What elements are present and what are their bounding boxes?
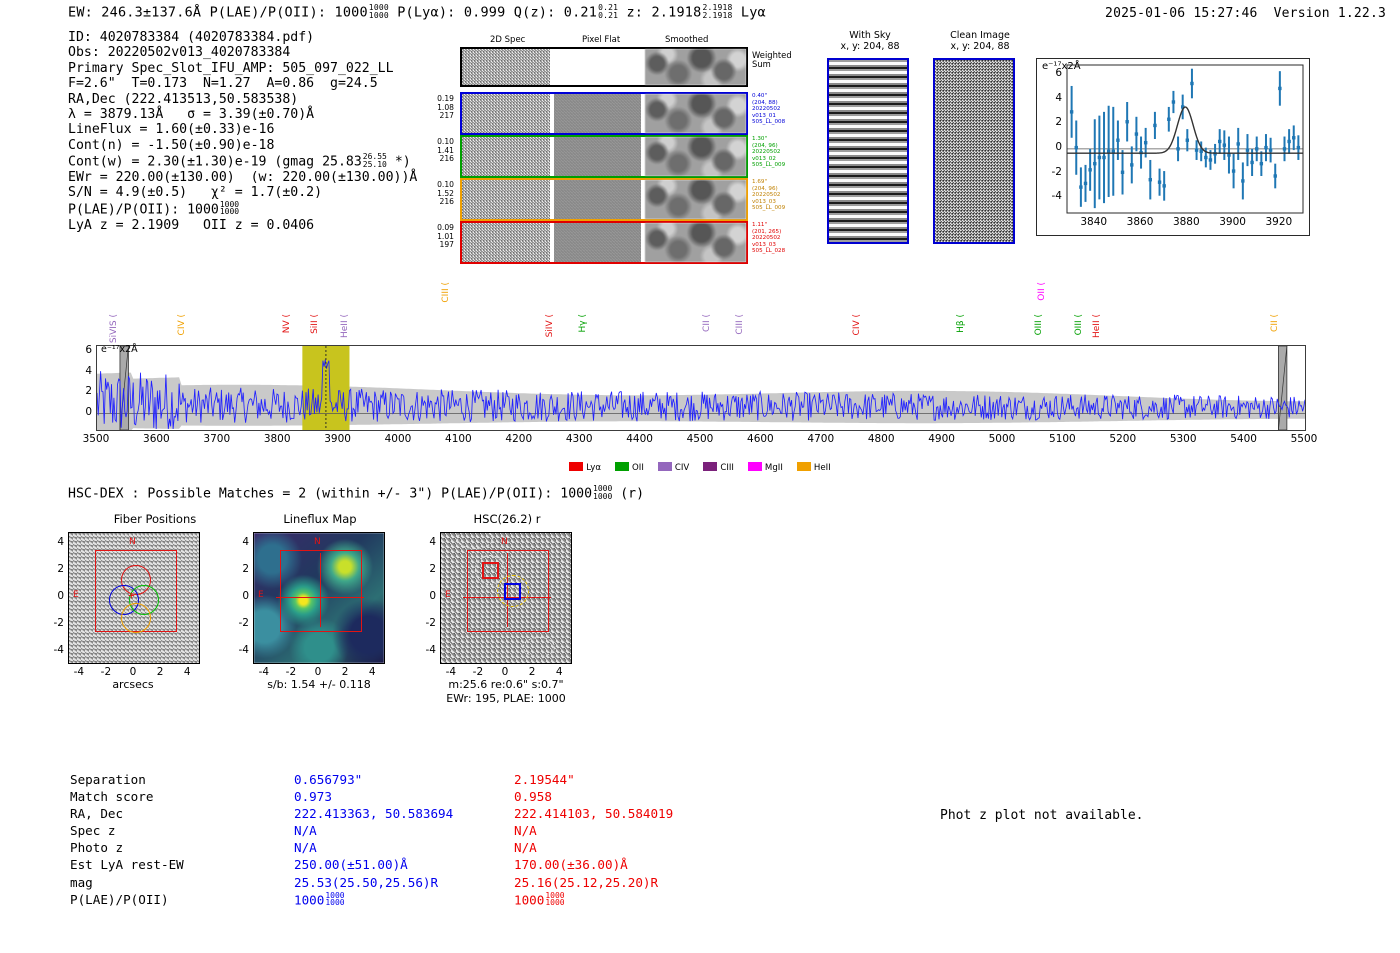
axis-tick-label: 3800 — [257, 433, 297, 445]
match-marker-2[interactable] — [482, 562, 499, 579]
fiber-positions-xlabel: arcsecs — [68, 678, 198, 691]
strip-pixelflat-image — [554, 49, 641, 85]
table-row: mag25.53(25.50,25.56)R25.16(25.12,25.20)… — [70, 875, 673, 890]
axis-tick-label: 4 — [539, 666, 579, 678]
axis-tick-label: 4500 — [680, 433, 720, 445]
axis-tick-label: 4200 — [499, 433, 539, 445]
full-spectrum-units: e⁻¹⁷x2Å — [101, 344, 138, 355]
axis-tick-label: 4 — [352, 666, 392, 678]
fiber-positions-image[interactable]: N E + — [68, 532, 200, 664]
fiber-strip — [460, 221, 748, 264]
axis-tick-label: 4 — [410, 536, 436, 548]
table-row-label: RA, Dec — [70, 806, 292, 821]
photz-note: Phot z plot not available. — [940, 808, 1144, 823]
info-obs: Obs: 20220502v013_4020783384 — [68, 45, 417, 60]
table-row-label: mag — [70, 875, 292, 890]
header-timestamp-version: 2025-01-06 15:27:46 Version 1.22.3 — [1105, 6, 1386, 21]
axis-tick-label: 4000 — [378, 433, 418, 445]
match2-value: 0.958 — [514, 789, 673, 804]
table-row: RA, Dec222.413363, 50.583694222.414103, … — [70, 806, 673, 821]
match1-value: 0.973 — [294, 789, 512, 804]
axis-tick-label: 3860 — [1120, 216, 1160, 228]
emission-line-legend: LyαOIICIVCIIIMgIIHeII — [0, 457, 1400, 476]
fiber-positions-title: Fiber Positions — [60, 512, 250, 526]
axis-tick-label: -2 — [1036, 166, 1062, 178]
info-cont-w: Cont(w) = 2.30(±1.30)e-19 (gmag 25.8326.… — [68, 153, 417, 170]
table-row-label: Spec z — [70, 823, 292, 838]
hsc-dex-header: HSC-DEX : Possible Matches = 2 (within +… — [68, 485, 644, 501]
fiber-left-stats: 0.101.41216 — [420, 138, 454, 164]
plae-fraction: 10001000 — [325, 892, 344, 907]
match1-value: 0.656793" — [294, 772, 512, 787]
axis-tick-label: 5200 — [1103, 433, 1143, 445]
match-table: Separation0.656793"2.19544"Match score0.… — [68, 770, 675, 909]
match1-value: 250.00(±51.00)Å — [294, 857, 512, 872]
with-sky-title: With Skyx, y: 204, 88 — [820, 30, 920, 52]
info-lambda-sigma: λ = 3879.13Å σ = 3.39(±0.70)Å — [68, 107, 417, 122]
match2-value: N/A — [514, 840, 673, 855]
version-label: Version 1.22.3 — [1274, 6, 1386, 21]
weighted-sum-strip — [460, 47, 748, 87]
axis-tick-label: 6 — [1036, 67, 1062, 79]
axis-tick-label: 0 — [66, 406, 92, 418]
clean-image-title: Clean Imagex, y: 204, 88 — [925, 30, 1035, 52]
hsc-r-image[interactable]: N E — [440, 532, 572, 664]
header-plae-fraction: 10001000 — [369, 4, 389, 19]
axis-tick-label: 3700 — [197, 433, 237, 445]
match2-value: 2.19544" — [514, 772, 673, 787]
header-z-fraction: 2.19182.1918 — [702, 4, 732, 19]
fiber-strip — [460, 178, 748, 221]
legend-item: MgII — [748, 462, 783, 473]
legend-label: CIV — [675, 463, 689, 473]
axis-tick-label: 0 — [38, 590, 64, 602]
emission-line-label: CIV ( — [852, 314, 862, 335]
hsc-r-sublabel: EWr: 195, PLAE: 1000 — [430, 692, 582, 705]
compass-north: N — [129, 537, 136, 547]
axis-tick-label: 3900 — [318, 433, 358, 445]
legend-swatch — [797, 462, 811, 471]
gmag-fraction: 26.5525.10 — [363, 153, 387, 168]
axis-tick-label: 4 — [223, 536, 249, 548]
timestamp: 2025-01-06 15:27:46 — [1105, 6, 1258, 21]
axis-tick-label: 2 — [1036, 116, 1062, 128]
zoom-spectrum-plot: e⁻¹⁷x2Å — [1036, 58, 1310, 236]
compass-east: E — [73, 590, 79, 600]
axis-tick-label: -4 — [223, 644, 249, 656]
fiber-right-meta: 1.11"(201, 265) 20220502v013_03 505_LL_0… — [752, 222, 785, 255]
axis-tick-label: 3500 — [76, 433, 116, 445]
axis-tick-label: 5100 — [1042, 433, 1082, 445]
table-row-label: Est LyA rest-EW — [70, 857, 292, 872]
legend-item: HeII — [797, 462, 831, 473]
emission-line-label: NV ( — [282, 314, 292, 333]
lineflux-map-image[interactable]: N E — [253, 532, 385, 664]
header-z: z: 2.1918 — [626, 4, 701, 20]
header-qz-fraction: 0.210.21 — [598, 4, 618, 19]
match-marker-1[interactable] — [504, 583, 521, 600]
legend-label: CIII — [720, 463, 734, 473]
table-row: Spec zN/AN/A — [70, 823, 673, 838]
strip-smoothed-image — [645, 49, 746, 85]
table-row-label: Separation — [70, 772, 292, 787]
fiber-circle — [121, 603, 151, 633]
emission-line-label: SiVIS ( — [109, 314, 119, 343]
emission-line-label: OIII ( — [1034, 314, 1044, 335]
axis-tick-label: 3840 — [1074, 216, 1114, 228]
axis-tick-label: 5000 — [982, 433, 1022, 445]
fiber-left-stats: 0.191.08217 — [420, 95, 454, 121]
emission-line-label: CII ( — [702, 314, 712, 332]
axis-tick-label: -4 — [1036, 190, 1062, 202]
axis-tick-label: 4 — [66, 365, 92, 377]
plae-fraction: 10001000 — [545, 892, 564, 907]
spec2d-montage: 2D Spec Pixel Flat Smoothed WeightedSum … — [460, 35, 760, 245]
emission-line-label: HeII ( — [340, 314, 350, 338]
emission-line-label: CIV ( — [177, 314, 187, 335]
col-header-pixelflat: Pixel Flat — [582, 35, 620, 45]
legend-swatch — [748, 462, 762, 471]
fiber-strip — [460, 92, 748, 135]
strip-2dspec-image — [462, 49, 550, 85]
compass-east: E — [258, 590, 264, 600]
info-lineflux: LineFlux = 1.60(±0.33)e-16 — [68, 122, 417, 137]
emission-line-label: Hβ ( — [956, 314, 966, 333]
compass-east: E — [445, 590, 451, 600]
info-cont-n: Cont(n) = -1.50(±0.90)e-18 — [68, 138, 417, 153]
emission-line-label: Hγ ( — [578, 314, 588, 332]
legend-label: MgII — [765, 463, 783, 473]
axis-tick-label: -2 — [38, 617, 64, 629]
match2-value: 222.414103, 50.584019 — [514, 806, 673, 821]
axis-tick-label: 4900 — [922, 433, 962, 445]
axis-tick-label: 2 — [223, 563, 249, 575]
emission-line-label: CIII ( — [735, 314, 745, 335]
info-seeing-params: F=2.6" T=0.173 N=1.27 A=0.86 g=24.5 — [68, 76, 417, 91]
legend-swatch — [615, 462, 629, 471]
legend-label: Lyα — [586, 463, 601, 473]
axis-tick-label: 4 — [167, 666, 207, 678]
clean-image-cutout — [933, 58, 1015, 244]
table-row: Separation0.656793"2.19544" — [70, 772, 673, 787]
emission-line-label: OIII ( — [1074, 314, 1084, 335]
axis-tick-label: -2 — [223, 617, 249, 629]
fiber-strip — [460, 135, 748, 178]
info-id: ID: 4020783384 (4020783384.pdf) — [68, 30, 417, 45]
emission-line-label: SiII ( — [310, 314, 320, 334]
fiber-right-meta: 1.30"(204, 96) 20220502v013_02 505_LL_00… — [752, 136, 785, 169]
legend-item: CIV — [658, 462, 689, 473]
axis-tick-label: 4 — [38, 536, 64, 548]
hsc-plae-fraction: 10001000 — [593, 485, 612, 500]
legend-swatch — [569, 462, 583, 471]
emission-line-label: OII ( — [1037, 282, 1047, 301]
axis-tick-label: 4 — [1036, 92, 1062, 104]
table-row: P(LAE)/P(OII)100010001000100010001000 — [70, 892, 673, 908]
header-plya: P(Lyα): 0.999 — [397, 4, 505, 20]
axis-tick-label: 4700 — [801, 433, 841, 445]
col-header-2dspec: 2D Spec — [490, 35, 525, 45]
axis-tick-label: 0 — [410, 590, 436, 602]
legend-swatch — [658, 462, 672, 471]
axis-tick-label: 4300 — [559, 433, 599, 445]
emission-line-label: HeII ( — [1092, 314, 1102, 338]
axis-tick-label: 3920 — [1259, 216, 1299, 228]
fiber-left-stats: 0.101.52216 — [420, 181, 454, 207]
axis-tick-label: 5500 — [1284, 433, 1324, 445]
axis-tick-label: 4100 — [438, 433, 478, 445]
source-ellipse — [523, 637, 555, 657]
match2-value: N/A — [514, 823, 673, 838]
match2-value: 100010001000 — [514, 892, 673, 908]
match1-value: 222.413363, 50.583694 — [294, 806, 512, 821]
axis-tick-label: 4800 — [861, 433, 901, 445]
axis-tick-label: 5300 — [1163, 433, 1203, 445]
table-row-label: Photo z — [70, 840, 292, 855]
info-snr-chi2: S/N = 4.9(±0.5) χ² = 1.7(±0.2) — [68, 185, 417, 200]
target-crosshair: + — [128, 592, 135, 600]
axis-tick-label: 0 — [1036, 141, 1062, 153]
axis-tick-label: 4600 — [740, 433, 780, 445]
with-sky-cutout — [827, 58, 909, 244]
header-qz: Q(z): 0.21 — [514, 4, 597, 20]
info-redshifts: LyA z = 2.1909 OII z = 0.0406 — [68, 218, 417, 233]
axis-tick-label: -4 — [410, 644, 436, 656]
legend-swatch — [703, 462, 717, 471]
info-primary-spec: Primary Spec_Slot_IFU_AMP: 505_097_022_L… — [68, 61, 417, 76]
axis-tick-label: 3600 — [136, 433, 176, 445]
lineflux-map-title: Lineflux Map — [225, 512, 415, 526]
info-ewr: EWr = 220.00(±130.00) (w: 220.00(±130.00… — [68, 170, 417, 185]
info-plae-fraction: 10001000 — [220, 201, 239, 216]
match1-value: 25.53(25.50,25.56)R — [294, 875, 512, 890]
source-info-block: ID: 4020783384 (4020783384.pdf) Obs: 202… — [68, 30, 417, 233]
axis-tick-label: 2 — [410, 563, 436, 575]
axis-tick-label: 3900 — [1213, 216, 1253, 228]
header-ew-plae: EW: 246.3±137.6Å P(LAE)/P(OII): 1000 — [68, 4, 368, 20]
header-z-type: Lyα — [741, 4, 766, 20]
compass-north: N — [314, 537, 321, 547]
axis-tick-label: 2 — [66, 385, 92, 397]
hsc-r-title: HSC(26.2) r — [412, 512, 602, 526]
table-row: Est LyA rest-EW250.00(±51.00)Å170.00(±36… — [70, 857, 673, 872]
fiber-right-meta: 1.69"(204, 96) 20220502v013_03 505_LL_00… — [752, 179, 785, 212]
weighted-sum-label: WeightedSum — [752, 51, 792, 70]
table-row-label: P(LAE)/P(OII) — [70, 892, 292, 908]
match2-value: 25.16(25.12,25.20)R — [514, 875, 673, 890]
table-row-label: Match score — [70, 789, 292, 804]
axis-tick-label: -4 — [38, 644, 64, 656]
axis-tick-label: 0 — [223, 590, 249, 602]
lineflux-map-xlabel: s/b: 1.54 +/- 0.118 — [248, 678, 390, 691]
full-spectrum-plot: e⁻¹⁷x2Å — [96, 345, 1306, 431]
legend-item: CIII — [703, 462, 734, 473]
match1-value: N/A — [294, 823, 512, 838]
header-summary-line: EW: 246.3±137.6Å P(LAE)/P(OII): 10001000… — [68, 4, 766, 20]
axis-tick-label: 5400 — [1224, 433, 1264, 445]
table-row: Photo zN/AN/A — [70, 840, 673, 855]
axis-tick-label: 4400 — [620, 433, 660, 445]
legend-label: HeII — [814, 463, 831, 473]
match2-value: 170.00(±36.00)Å — [514, 857, 673, 872]
axis-tick-label: 6 — [66, 344, 92, 356]
table-row: Match score0.9730.958 — [70, 789, 673, 804]
info-plae: P(LAE)/P(OII): 100010001000 — [68, 201, 417, 218]
legend-item: Lyα — [569, 462, 601, 473]
col-header-smoothed: Smoothed — [665, 35, 708, 45]
compass-north: N — [501, 537, 508, 547]
match1-value: 100010001000 — [294, 892, 512, 908]
match1-value: N/A — [294, 840, 512, 855]
fiber-right-meta: 0.40"(204, 88) 20220502v013_01 505_LL_00… — [752, 93, 785, 126]
legend-item: OII — [615, 462, 644, 473]
fiber-left-stats: 0.091.01197 — [420, 224, 454, 250]
hsc-r-xlabel: m:25.6 re:0.6" s:0.7" — [430, 678, 582, 691]
emission-line-label: SiIV ( — [545, 314, 555, 337]
axis-tick-label: 2 — [38, 563, 64, 575]
emission-line-label: CIII ( — [441, 282, 451, 303]
axis-tick-label: -2 — [410, 617, 436, 629]
emission-line-label: CII ( — [1270, 314, 1280, 332]
info-radec: RA,Dec (222.413513,50.583538) — [68, 92, 417, 107]
axis-tick-label: 3880 — [1166, 216, 1206, 228]
legend-label: OII — [632, 463, 644, 473]
